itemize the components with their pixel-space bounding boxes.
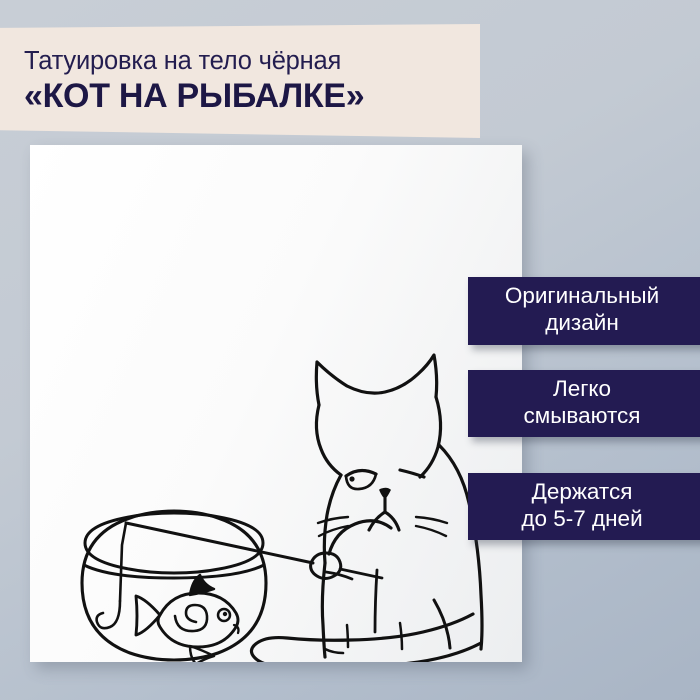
feature-badge-line-2: до 5-7 дней xyxy=(521,506,642,533)
feature-badge-line-2: смываются xyxy=(524,403,641,430)
feature-badge-easy-wash-off: Легко смываются xyxy=(468,370,700,437)
cat-fishing-illustration xyxy=(30,145,522,662)
screenshot-root: SIMA LAND SIMA-LAND.RU Татуировка на тел… xyxy=(0,0,700,700)
feature-badge-text: Держатся до 5-7 дней xyxy=(521,479,642,532)
product-subtitle: Татуировка на тело чёрная xyxy=(24,47,466,76)
title-banner: Татуировка на тело чёрная «КОТ НА РЫБАЛК… xyxy=(0,24,480,138)
product-photo-card: SIMA LAND SIMA-LAND.RU xyxy=(30,145,522,662)
feature-badge-line-1: Легко xyxy=(524,376,641,403)
feature-badge-line-2: дизайн xyxy=(505,310,659,337)
feature-badge-text: Оригинальный дизайн xyxy=(505,283,659,336)
feature-badge-original-design: Оригинальный дизайн xyxy=(468,277,700,345)
feature-badge-line-1: Держатся xyxy=(521,479,642,506)
feature-badge-text: Легко смываются xyxy=(524,376,641,429)
feature-badge-line-1: Оригинальный xyxy=(505,283,659,310)
product-title: «КОТ НА РЫБАЛКЕ» xyxy=(24,78,466,115)
feature-badge-duration: Держатся до 5-7 дней xyxy=(468,473,700,540)
